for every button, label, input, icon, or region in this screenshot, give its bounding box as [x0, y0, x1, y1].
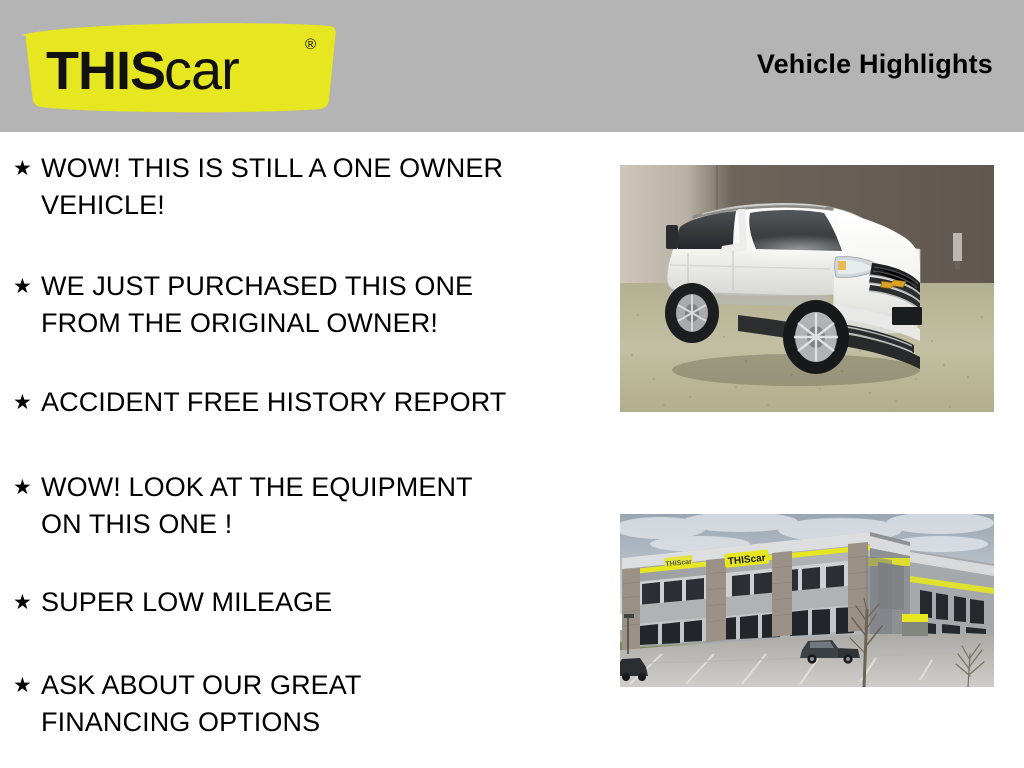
star-bullet-icon: ★: [13, 469, 41, 506]
page-title: Vehicle Highlights: [757, 49, 993, 80]
list-item-label: SUPER LOW MILEAGE: [41, 584, 590, 621]
list-item-label: ASK ABOUT OUR GREAT FINANCING OPTIONS: [41, 667, 590, 741]
slide-canvas: THIS car ® Vehicle Highlights ★ WOW! THI…: [0, 0, 1024, 768]
thiscar-logo[interactable]: THIS car ®: [18, 21, 338, 113]
star-bullet-icon: ★: [13, 584, 41, 621]
list-item-label: WOW! THIS IS STILL A ONE OWNER VEHICLE!: [41, 150, 590, 224]
logo-brand-primary: THIS: [46, 41, 165, 101]
star-bullet-icon: ★: [13, 384, 41, 421]
list-item-label: WOW! LOOK AT THE EQUIPMENT ON THIS ONE !: [41, 469, 590, 543]
list-item: ★ ACCIDENT FREE HISTORY REPORT: [0, 384, 590, 421]
star-bullet-icon: ★: [13, 667, 41, 704]
dealership-photo[interactable]: THIScar THIScar: [620, 514, 994, 687]
list-item-label: WE JUST PURCHASED THIS ONE FROM THE ORIG…: [41, 268, 590, 342]
star-bullet-icon: ★: [13, 268, 41, 305]
list-item: ★ ASK ABOUT OUR GREAT FINANCING OPTIONS: [0, 667, 590, 741]
list-item: ★ SUPER LOW MILEAGE: [0, 584, 590, 621]
list-item: ★ WOW! THIS IS STILL A ONE OWNER VEHICLE…: [0, 150, 590, 224]
star-bullet-icon: ★: [13, 150, 41, 187]
vehicle-photo[interactable]: [620, 165, 994, 412]
list-item-label: ACCIDENT FREE HISTORY REPORT: [41, 384, 590, 421]
registered-trademark-icon: ®: [305, 36, 316, 53]
list-item: ★ WE JUST PURCHASED THIS ONE FROM THE OR…: [0, 268, 590, 342]
logo-brand-secondary: car: [164, 38, 239, 101]
list-item: ★ WOW! LOOK AT THE EQUIPMENT ON THIS ONE…: [0, 469, 590, 543]
